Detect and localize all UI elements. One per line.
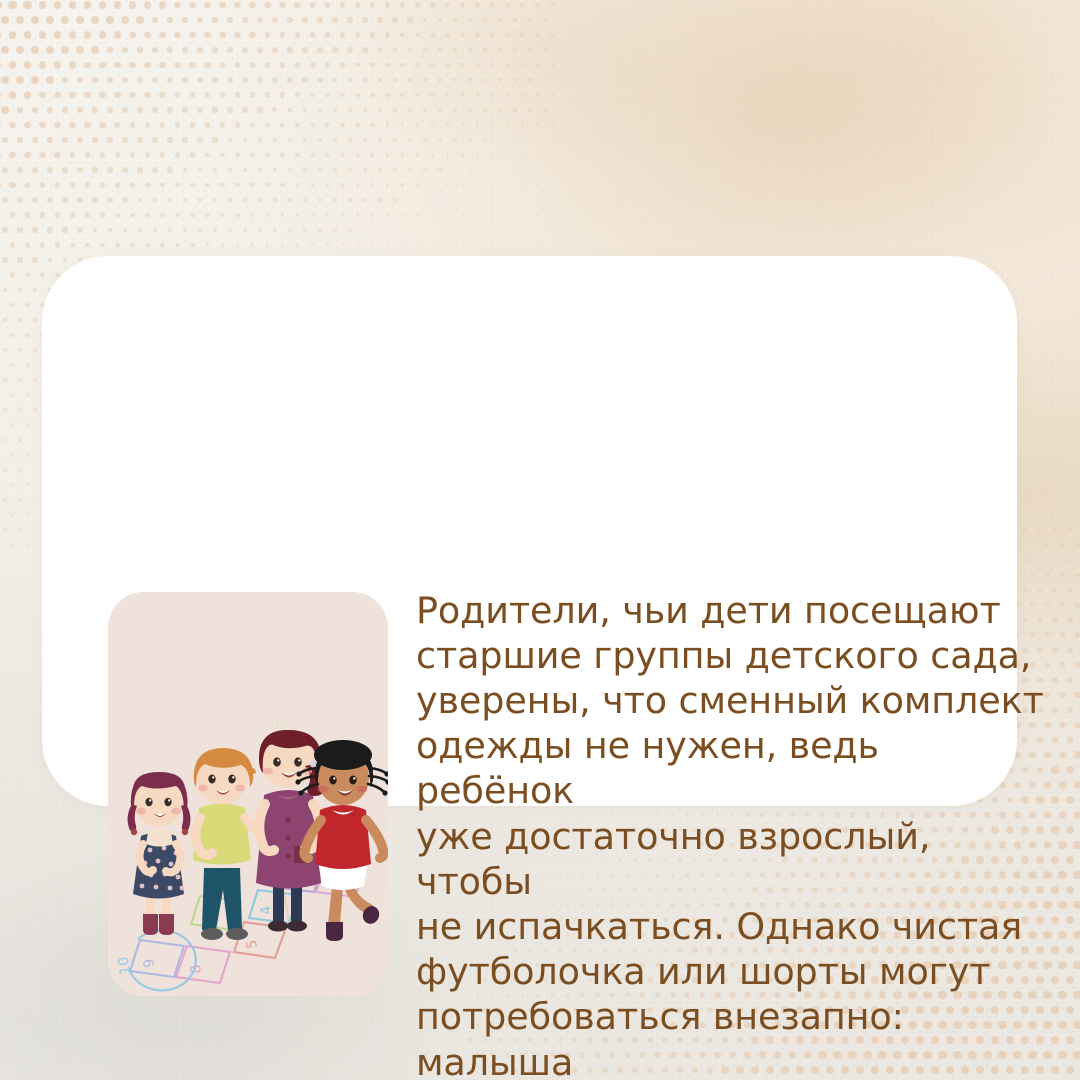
children-hopscotch-illustration: 3 2 4 6 5 xyxy=(108,592,388,996)
body-paragraph: Родители, чьи дети посещают старшие груп… xyxy=(416,588,1046,1080)
illustration-card: 3 2 4 6 5 xyxy=(108,592,388,996)
svg-text:10: 10 xyxy=(116,956,134,976)
slide-canvas: 3 2 4 6 5 xyxy=(0,0,1080,1080)
content-card: 3 2 4 6 5 xyxy=(42,256,1017,806)
